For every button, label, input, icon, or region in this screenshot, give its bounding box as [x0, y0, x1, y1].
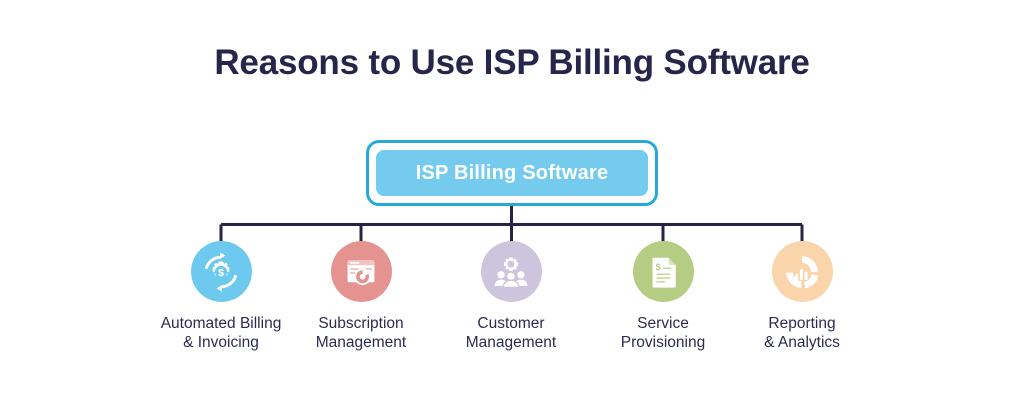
branch-subscription-management[interactable]: Subscription Management — [286, 241, 436, 352]
gear-dollar-refresh-icon: $ — [201, 252, 241, 292]
hub-node-fill: ISP Billing Software — [376, 150, 648, 196]
invoice-document-dollar-icon: $ — [645, 254, 681, 290]
branch-label: Reporting & Analytics — [764, 314, 840, 352]
branch-label: Service Provisioning — [621, 314, 705, 352]
branch-automated-billing[interactable]: $ Automated Billing & Invoicing — [146, 241, 296, 352]
hub-node[interactable]: ISP Billing Software — [366, 140, 658, 206]
browser-window-donut-chart-icon — [342, 253, 380, 291]
hub-node-label: ISP Billing Software — [416, 162, 609, 185]
people-group-gear-icon — [492, 253, 530, 291]
infographic-root: Reasons to Use ISP Billing Software ISP … — [0, 0, 1024, 401]
branch-customer-management[interactable]: Customer Management — [436, 241, 586, 352]
branch-icon-circle: $ — [633, 241, 694, 302]
svg-text:$: $ — [656, 262, 661, 272]
branch-label: Customer Management — [466, 314, 556, 352]
page-title: Reasons to Use ISP Billing Software — [0, 40, 1024, 86]
branch-icon-circle — [331, 241, 392, 302]
branch-service-provisioning[interactable]: $ Service Provisioning — [588, 241, 738, 352]
branch-icon-circle: $ — [191, 241, 252, 302]
branch-label: Subscription Management — [316, 314, 406, 352]
branch-label: Automated Billing & Invoicing — [161, 314, 282, 352]
donut-bar-chart-icon — [783, 253, 821, 291]
svg-text:$: $ — [218, 267, 224, 278]
branch-icon-circle — [481, 241, 542, 302]
branch-icon-circle — [772, 241, 833, 302]
branch-reporting-analytics[interactable]: Reporting & Analytics — [727, 241, 877, 352]
